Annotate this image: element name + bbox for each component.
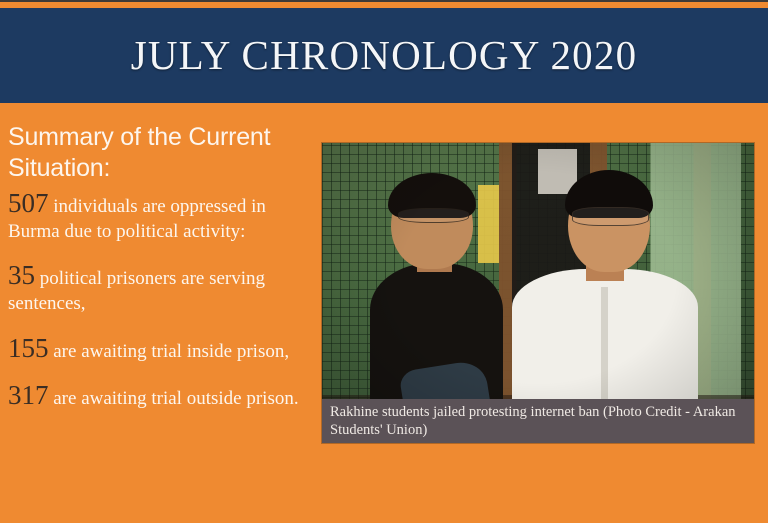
stat-number-155: 155 bbox=[8, 333, 49, 363]
title-band: JULY CHRONOLOGY 2020 bbox=[0, 8, 768, 103]
stat-number-507: 507 bbox=[8, 188, 49, 218]
stat-text-35: political prisoners are serving sentence… bbox=[8, 268, 265, 314]
photo-vignette-overlay bbox=[322, 143, 754, 443]
stat-line-317: 317 are awaiting trial outside prison. bbox=[8, 381, 316, 412]
photo-rakhine-students bbox=[322, 143, 754, 443]
stat-number-317: 317 bbox=[8, 380, 49, 410]
page-title: JULY CHRONOLOGY 2020 bbox=[131, 35, 638, 76]
summary-heading: Summary of the Current Situation: bbox=[8, 122, 316, 183]
summary-text-column: Summary of the Current Situation: 507 in… bbox=[8, 122, 316, 418]
photo-caption-bar: Rakhine students jailed protesting inter… bbox=[322, 399, 754, 443]
stat-text-317: are awaiting trial outside prison. bbox=[49, 388, 299, 409]
stat-line-507: 507 individuals are oppressed in Burma d… bbox=[8, 189, 316, 244]
stat-line-35: 35 political prisoners are serving sente… bbox=[8, 261, 316, 316]
photo-caption-text: Rakhine students jailed protesting inter… bbox=[330, 404, 746, 439]
stat-text-155: are awaiting trial inside prison, bbox=[49, 341, 290, 362]
slide-july-chronology-2020: JULY CHRONOLOGY 2020 Summary of the Curr… bbox=[0, 0, 768, 523]
stat-line-155: 155 are awaiting trial inside prison, bbox=[8, 334, 316, 365]
stat-number-35: 35 bbox=[8, 260, 35, 290]
